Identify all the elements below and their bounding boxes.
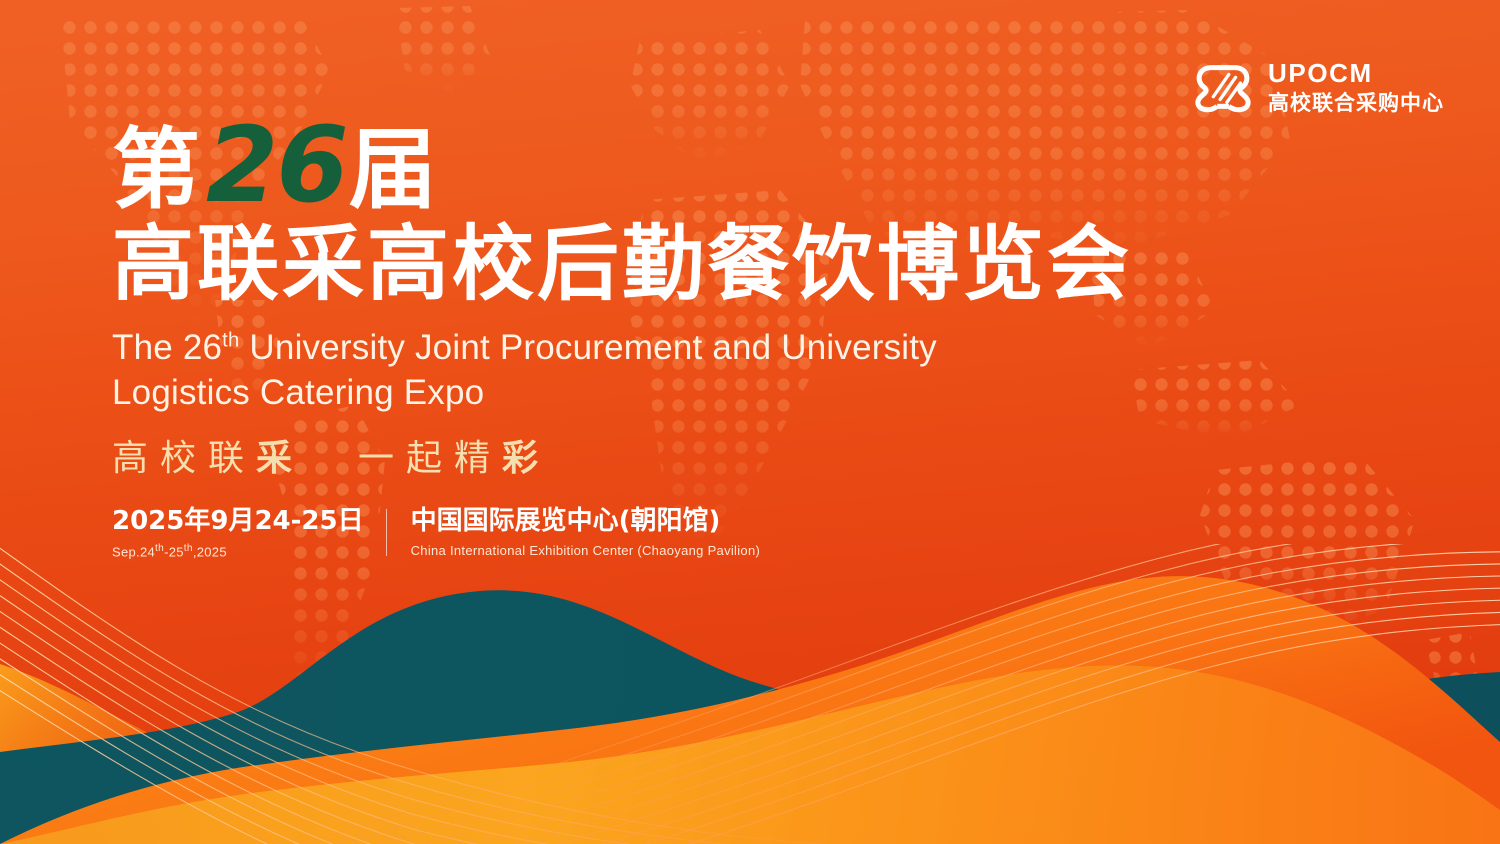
event-title-en-line1-b: University Joint Procurement and Univers… <box>240 328 937 367</box>
upocm-interlocking-logo-icon <box>1192 58 1254 116</box>
wave-decoration <box>0 544 1500 844</box>
event-title-en-line1: The 26th University Joint Procurement an… <box>112 326 1122 371</box>
event-date-en-a: Sep.24 <box>112 545 155 560</box>
tagline-part2-accent: 彩 <box>502 441 544 477</box>
event-date-en: Sep.24th-25th,2025 <box>112 543 364 559</box>
brand-name-cn: 高校联合采购中心 <box>1268 93 1444 114</box>
event-title-en: The 26th University Joint Procurement an… <box>112 326 1122 416</box>
event-title-en-line2: Logistics Catering Expo <box>112 371 1122 416</box>
edition-line: 第 26 届 <box>112 118 1122 214</box>
event-date-en-b: -25 <box>164 545 184 560</box>
edition-number: 26 <box>206 118 347 214</box>
edition-suffix: 届 <box>349 126 439 214</box>
event-banner: UPOCM 高校联合采购中心 第 26 届 高联采高校后勤餐饮博览会 The 2… <box>0 0 1500 844</box>
tagline-part1-accent: 采 <box>256 441 298 477</box>
event-tagline: 高校联 采 一起精 彩 <box>112 441 1122 477</box>
brand-name-en: UPOCM <box>1268 60 1444 86</box>
event-date: 2025年9月24-25日 Sep.24th-25th,2025 <box>112 507 386 559</box>
event-venue: 中国国际展览中心(朝阳馆) China International Exhibi… <box>387 507 761 558</box>
tagline-part2: 一起精 <box>358 441 502 477</box>
date-ordinal-2: th <box>184 543 193 554</box>
event-date-en-c: ,2025 <box>193 545 227 560</box>
event-venue-en: China International Exhibition Center (C… <box>411 543 761 558</box>
event-info: 2025年9月24-25日 Sep.24th-25th,2025 中国国际展览中… <box>112 507 1122 559</box>
edition-prefix: 第 <box>112 126 202 214</box>
ordinal-suffix: th <box>222 329 239 351</box>
event-title-en-line1-a: The 26 <box>112 328 222 367</box>
event-title-cn: 高联采高校后勤餐饮博览会 <box>112 222 1122 308</box>
date-ordinal-1: th <box>155 543 164 554</box>
event-venue-cn: 中国国际展览中心(朝阳馆) <box>411 507 761 537</box>
hero-content: 第 26 届 高联采高校后勤餐饮博览会 The 26th University … <box>112 118 1122 560</box>
event-date-cn: 2025年9月24-25日 <box>112 507 364 537</box>
tagline-part1: 高校联 <box>112 441 256 477</box>
brand-logo: UPOCM 高校联合采购中心 <box>1192 58 1444 116</box>
